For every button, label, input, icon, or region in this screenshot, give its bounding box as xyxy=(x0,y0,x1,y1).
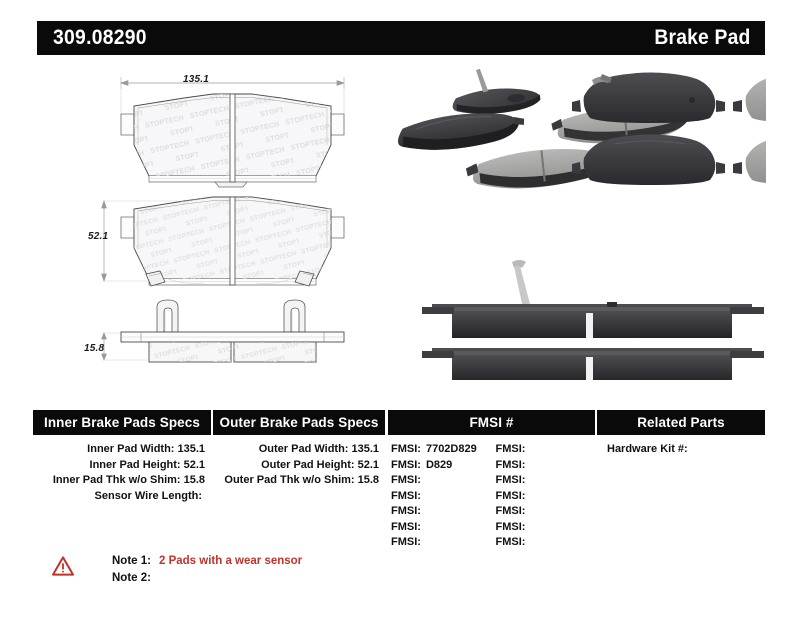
fmsi-subcolumn-2: FMSI: FMSI: FMSI: FMSI: FMSI: xyxy=(492,442,596,551)
fmsi-row: FMSI: xyxy=(391,473,492,489)
spec-row: Outer Pad Thk w/o Shim:15.8 xyxy=(213,473,385,489)
spec-row: Inner Pad Thk w/o Shim:15.8 xyxy=(33,473,211,489)
inner-specs-column: Inner Pad Width:135.1 Inner Pad Height:5… xyxy=(33,442,211,551)
fmsi-label: FMSI: xyxy=(496,505,526,517)
fmsi-label: FMSI: xyxy=(391,443,421,455)
note-line: Note 1: 2 Pads with a wear sensor xyxy=(112,553,302,570)
fmsi-row: FMSI: xyxy=(496,504,596,520)
page-title: Brake Pad xyxy=(655,26,751,50)
pad-drawings-svg: STOPTECH STOPTECH STOPTECH STOPTECH xyxy=(37,60,387,380)
product-photos-svg xyxy=(388,60,766,380)
spec-label: Outer Pad Width: xyxy=(259,443,349,455)
fmsi-label: FMSI: xyxy=(496,521,526,533)
fmsi-row: FMSI: xyxy=(496,473,596,489)
pad-edge-lower xyxy=(422,348,764,380)
note-label: Note 1: xyxy=(112,553,151,570)
technical-drawing-area: STOPTECH STOPTECH STOPTECH STOPTECH xyxy=(37,60,387,380)
header-bar: 309.08290 Brake Pad xyxy=(37,21,765,55)
dimension-line-width xyxy=(121,77,344,89)
spec-value: 135.1 xyxy=(351,443,379,455)
pad-top-right xyxy=(733,73,766,124)
notes-section: Note 1: 2 Pads with a wear sensor Note 2… xyxy=(52,553,302,587)
pad-edge-view xyxy=(121,300,344,362)
fmsi-row: FMSI:7702D829 xyxy=(391,442,492,458)
fmsi-label: FMSI: xyxy=(391,521,421,533)
fmsi-label: FMSI: xyxy=(496,490,526,502)
spec-row: Sensor Wire Length: xyxy=(33,489,211,505)
spec-row: Outer Pad Height:52.1 xyxy=(213,458,385,474)
fmsi-label: FMSI: xyxy=(391,536,421,548)
column-header-outer-specs: Outer Brake Pads Specs xyxy=(213,410,385,435)
part-number: 309.08290 xyxy=(53,26,147,50)
pad-top-left xyxy=(572,73,725,124)
product-photo-area xyxy=(388,60,766,380)
dimension-label-thickness: 15.8 xyxy=(84,343,104,354)
fmsi-row: FMSI: xyxy=(496,458,596,474)
spec-label: Inner Pad Height: xyxy=(90,459,181,471)
fmsi-row: FMSI: xyxy=(391,520,492,536)
spec-row: Outer Pad Width:135.1 xyxy=(213,442,385,458)
fmsi-row: FMSI: xyxy=(391,535,492,551)
outer-pad-front-view xyxy=(121,94,344,187)
related-part-row: Hardware Kit #: xyxy=(597,442,765,458)
fmsi-row: FMSI: xyxy=(496,535,596,551)
dimension-label-width: 135.1 xyxy=(183,74,209,85)
notes-text-block: Note 1: 2 Pads with a wear sensor Note 2… xyxy=(112,553,302,587)
outer-specs-column: Outer Pad Width:135.1 Outer Pad Height:5… xyxy=(213,442,385,551)
wear-sensor-clip-left xyxy=(157,300,178,337)
wear-sensor-clip-right xyxy=(284,300,305,337)
spec-value: 15.8 xyxy=(184,474,205,486)
note-line: Note 2: xyxy=(112,570,302,587)
pad-edge-upper xyxy=(422,302,764,338)
fmsi-value: D829 xyxy=(426,459,452,471)
fmsi-label: FMSI: xyxy=(496,459,526,471)
spec-sheet-page: 309.08290 Brake Pad STOPTECH STOPTECH ST… xyxy=(0,0,800,619)
fmsi-label: FMSI: xyxy=(391,474,421,486)
fmsi-column: FMSI:7702D829 FMSI:D829 FMSI: FMSI: FMSI… xyxy=(388,442,595,551)
fmsi-subcolumn-1: FMSI:7702D829 FMSI:D829 FMSI: FMSI: FMSI… xyxy=(388,442,492,551)
column-header-related-parts: Related Parts xyxy=(597,410,765,435)
spec-label: Outer Pad Height: xyxy=(261,459,355,471)
spec-row: Inner Pad Width:135.1 xyxy=(33,442,211,458)
fmsi-label: FMSI: xyxy=(496,536,526,548)
spec-label: Inner Pad Width: xyxy=(87,443,174,455)
warning-triangle-icon xyxy=(52,556,74,576)
fmsi-label: FMSI: xyxy=(496,443,526,455)
fmsi-row: FMSI: xyxy=(496,520,596,536)
specs-table-header-row: Inner Brake Pads Specs Outer Brake Pads … xyxy=(33,410,765,435)
spec-label: Inner Pad Thk w/o Shim: xyxy=(53,474,181,486)
fmsi-row: FMSI: xyxy=(391,489,492,505)
brake-pads-edge-sensor-photo xyxy=(422,260,764,380)
spec-value: 52.1 xyxy=(184,459,205,471)
spec-label: Outer Pad Thk w/o Shim: xyxy=(224,474,354,486)
fmsi-row: FMSI:D829 xyxy=(391,458,492,474)
note-label: Note 2: xyxy=(112,570,151,587)
dimension-label-height: 52.1 xyxy=(88,231,108,242)
spec-label: Sensor Wire Length: xyxy=(95,490,202,502)
spec-row: Inner Pad Height:52.1 xyxy=(33,458,211,474)
specs-table: Inner Brake Pads Specs Outer Brake Pads … xyxy=(33,410,765,551)
column-header-inner-specs: Inner Brake Pads Specs xyxy=(33,410,211,435)
spec-value: 52.1 xyxy=(358,459,379,471)
related-part-label: Hardware Kit #: xyxy=(607,443,688,455)
note-value: 2 Pads with a wear sensor xyxy=(159,553,302,570)
related-parts-column: Hardware Kit #: xyxy=(597,442,765,551)
column-header-fmsi: FMSI # xyxy=(388,410,595,435)
fmsi-row: FMSI: xyxy=(496,489,596,505)
fmsi-label: FMSI: xyxy=(391,459,421,471)
pad-bottom-right xyxy=(733,135,766,186)
fmsi-label: FMSI: xyxy=(391,490,421,502)
fmsi-value: 7702D829 xyxy=(426,443,477,455)
fmsi-row: FMSI: xyxy=(391,504,492,520)
fmsi-row: FMSI: xyxy=(496,442,596,458)
spec-value: 15.8 xyxy=(358,474,379,486)
fmsi-label: FMSI: xyxy=(391,505,421,517)
fmsi-label: FMSI: xyxy=(496,474,526,486)
inner-pad-front-view xyxy=(121,197,344,286)
specs-table-body: Inner Pad Width:135.1 Inner Pad Height:5… xyxy=(33,435,765,551)
spec-value: 135.1 xyxy=(177,443,205,455)
